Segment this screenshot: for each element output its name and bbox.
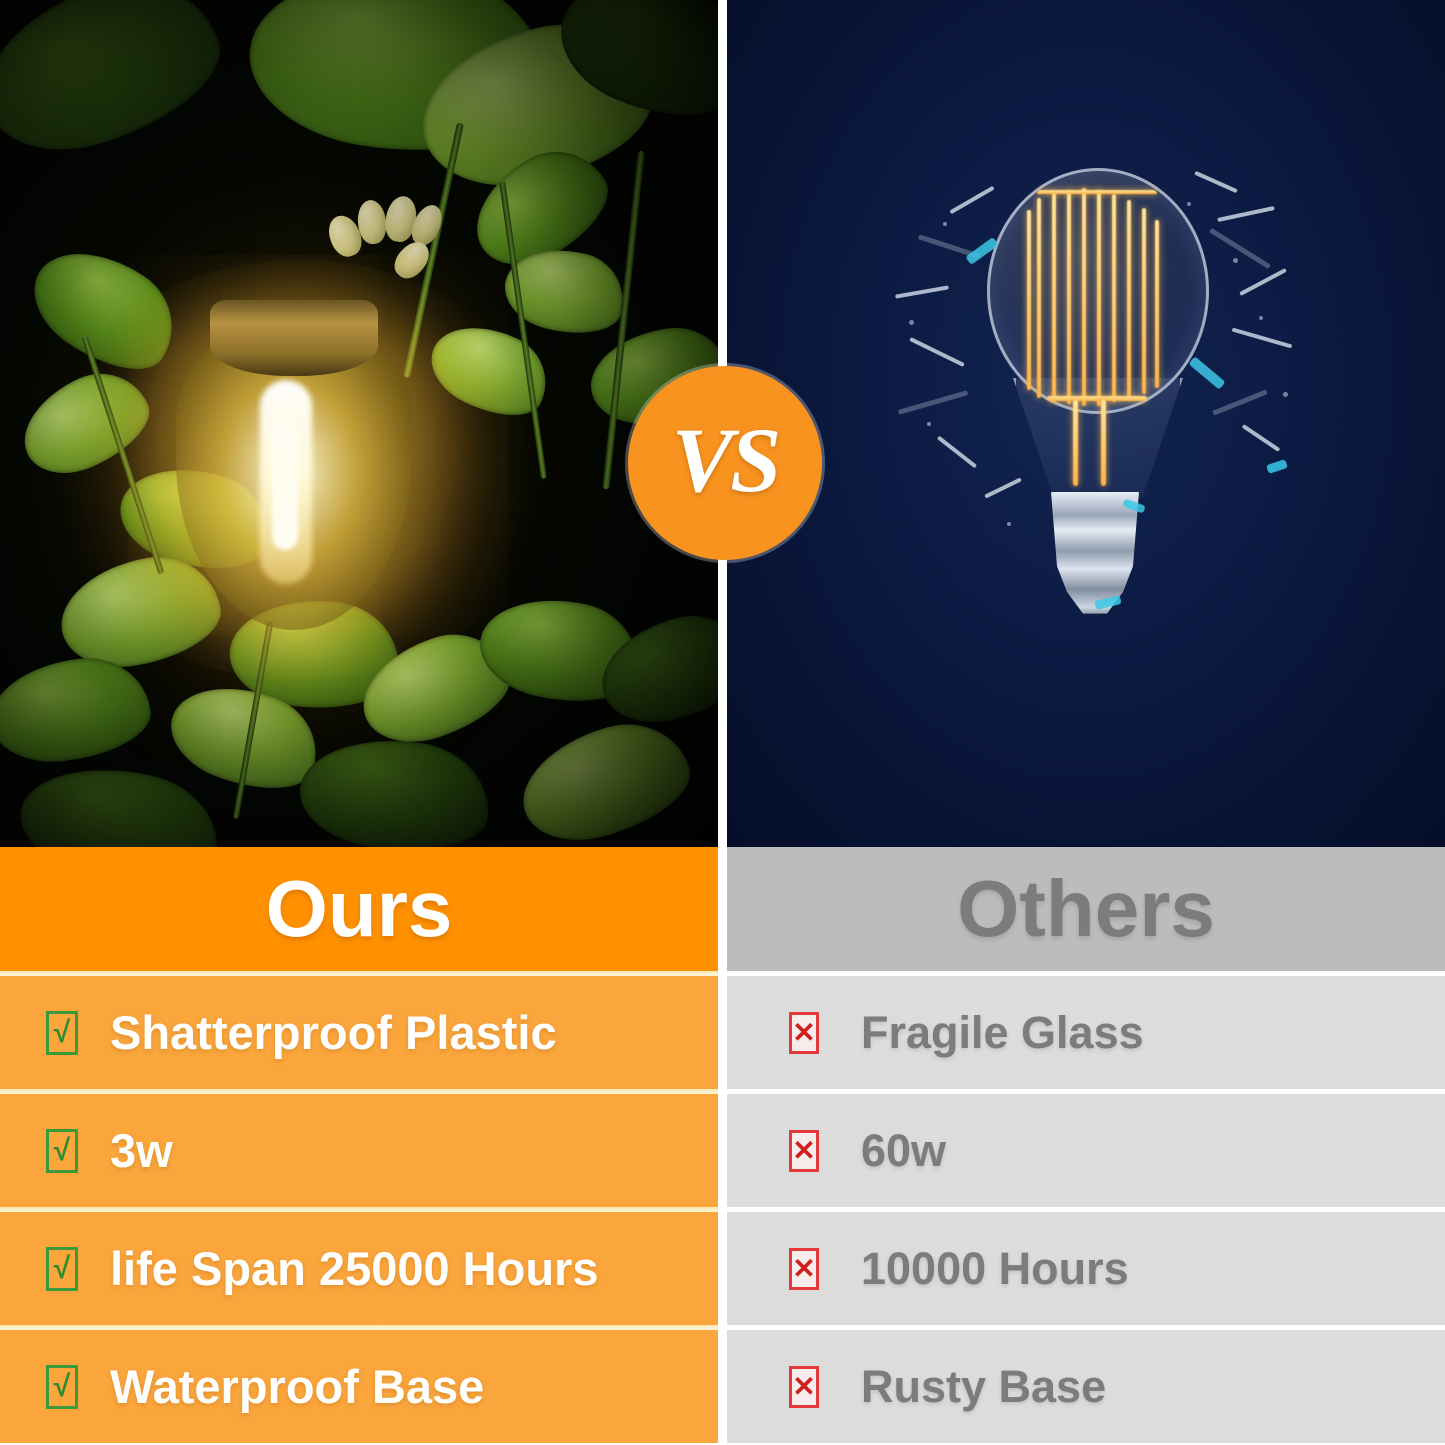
others-header: Others — [727, 847, 1445, 971]
ours-feature-label: 3w — [110, 1127, 173, 1174]
ours-title: Ours — [266, 869, 453, 949]
column-divider — [718, 847, 727, 1445]
table-row: √ life Span 25000 Hours — [0, 1212, 718, 1325]
ours-feature-label: Shatterproof Plastic — [110, 1009, 557, 1056]
check-icon: √ — [46, 1247, 78, 1291]
cross-icon: ✕ — [789, 1012, 819, 1054]
comparison-table: Ours √ Shatterproof Plastic √ 3w √ life … — [0, 847, 1445, 1445]
others-feature-label: Rusty Base — [861, 1364, 1106, 1409]
ours-feature-label: Waterproof Base — [110, 1363, 484, 1410]
shattering-bulb — [887, 150, 1307, 710]
others-feature-label: Fragile Glass — [861, 1010, 1144, 1055]
check-icon: √ — [46, 1129, 78, 1173]
others-feature-label: 10000 Hours — [861, 1246, 1129, 1291]
check-icon: √ — [46, 1011, 78, 1055]
ours-feature-label: life Span 25000 Hours — [110, 1245, 598, 1292]
cross-icon: ✕ — [789, 1366, 819, 1408]
photo-vignette — [0, 0, 718, 847]
others-product-photo — [727, 0, 1445, 847]
ours-header: Ours — [0, 847, 718, 971]
table-row: √ 3w — [0, 1094, 718, 1207]
others-title: Others — [957, 869, 1215, 949]
check-icon: √ — [46, 1365, 78, 1409]
product-comparison-infographic: VS Ours √ Shatterproof Plastic √ 3w √ li… — [0, 0, 1445, 1445]
ours-column: Ours √ Shatterproof Plastic √ 3w √ life … — [0, 847, 718, 1445]
table-row: ✕ 10000 Hours — [727, 1212, 1445, 1325]
table-row: ✕ Rusty Base — [727, 1330, 1445, 1443]
table-row: ✕ Fragile Glass — [727, 976, 1445, 1089]
cross-icon: ✕ — [789, 1248, 819, 1290]
vs-badge-label: VS — [672, 407, 779, 513]
ours-product-photo — [0, 0, 718, 847]
cross-icon: ✕ — [789, 1130, 819, 1172]
others-feature-label: 60w — [861, 1128, 946, 1173]
vs-badge: VS — [628, 366, 822, 560]
others-column: Others ✕ Fragile Glass ✕ 60w ✕ 10000 Hou… — [727, 847, 1445, 1445]
table-row: √ Shatterproof Plastic — [0, 976, 718, 1089]
table-row: √ Waterproof Base — [0, 1330, 718, 1443]
table-row: ✕ 60w — [727, 1094, 1445, 1207]
